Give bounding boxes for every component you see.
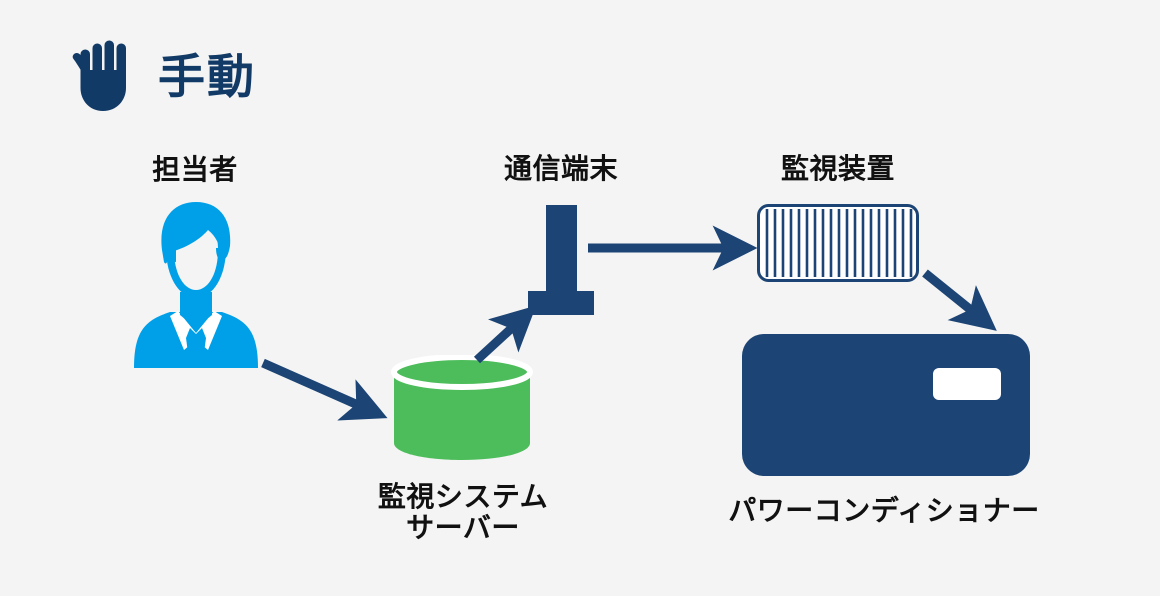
power-conditioner-icon xyxy=(742,334,1030,476)
label-server-line1: 監視システム xyxy=(330,481,596,512)
label-person: 担当者 xyxy=(133,154,257,185)
arrow-terminal-to-monitor xyxy=(585,230,765,266)
hand-icon xyxy=(70,40,140,112)
page-title: 手動 xyxy=(158,53,256,100)
arrow-person-to-server xyxy=(250,345,400,435)
database-cylinder-icon xyxy=(390,355,534,460)
label-server-line2: サーバー xyxy=(330,512,596,543)
monitoring-device-icon xyxy=(757,204,919,282)
arrow-monitor-to-power-conditioner xyxy=(915,265,1015,345)
person-avatar-icon xyxy=(130,200,262,368)
label-monitor: 監視装置 xyxy=(757,153,919,184)
arrow-server-to-terminal xyxy=(465,295,545,370)
title-group: 手動 xyxy=(70,40,256,112)
label-server: 監視システム サーバー xyxy=(330,481,596,544)
power-conditioner-display xyxy=(933,368,1001,400)
label-terminal: 通信端末 xyxy=(481,153,641,184)
diagram-canvas: 手動 担当者 通信端末 監視装置 監視システム サーバー パワーコンディショナー xyxy=(0,0,1160,596)
label-power-conditioner: パワーコンディショナー xyxy=(684,495,1084,526)
